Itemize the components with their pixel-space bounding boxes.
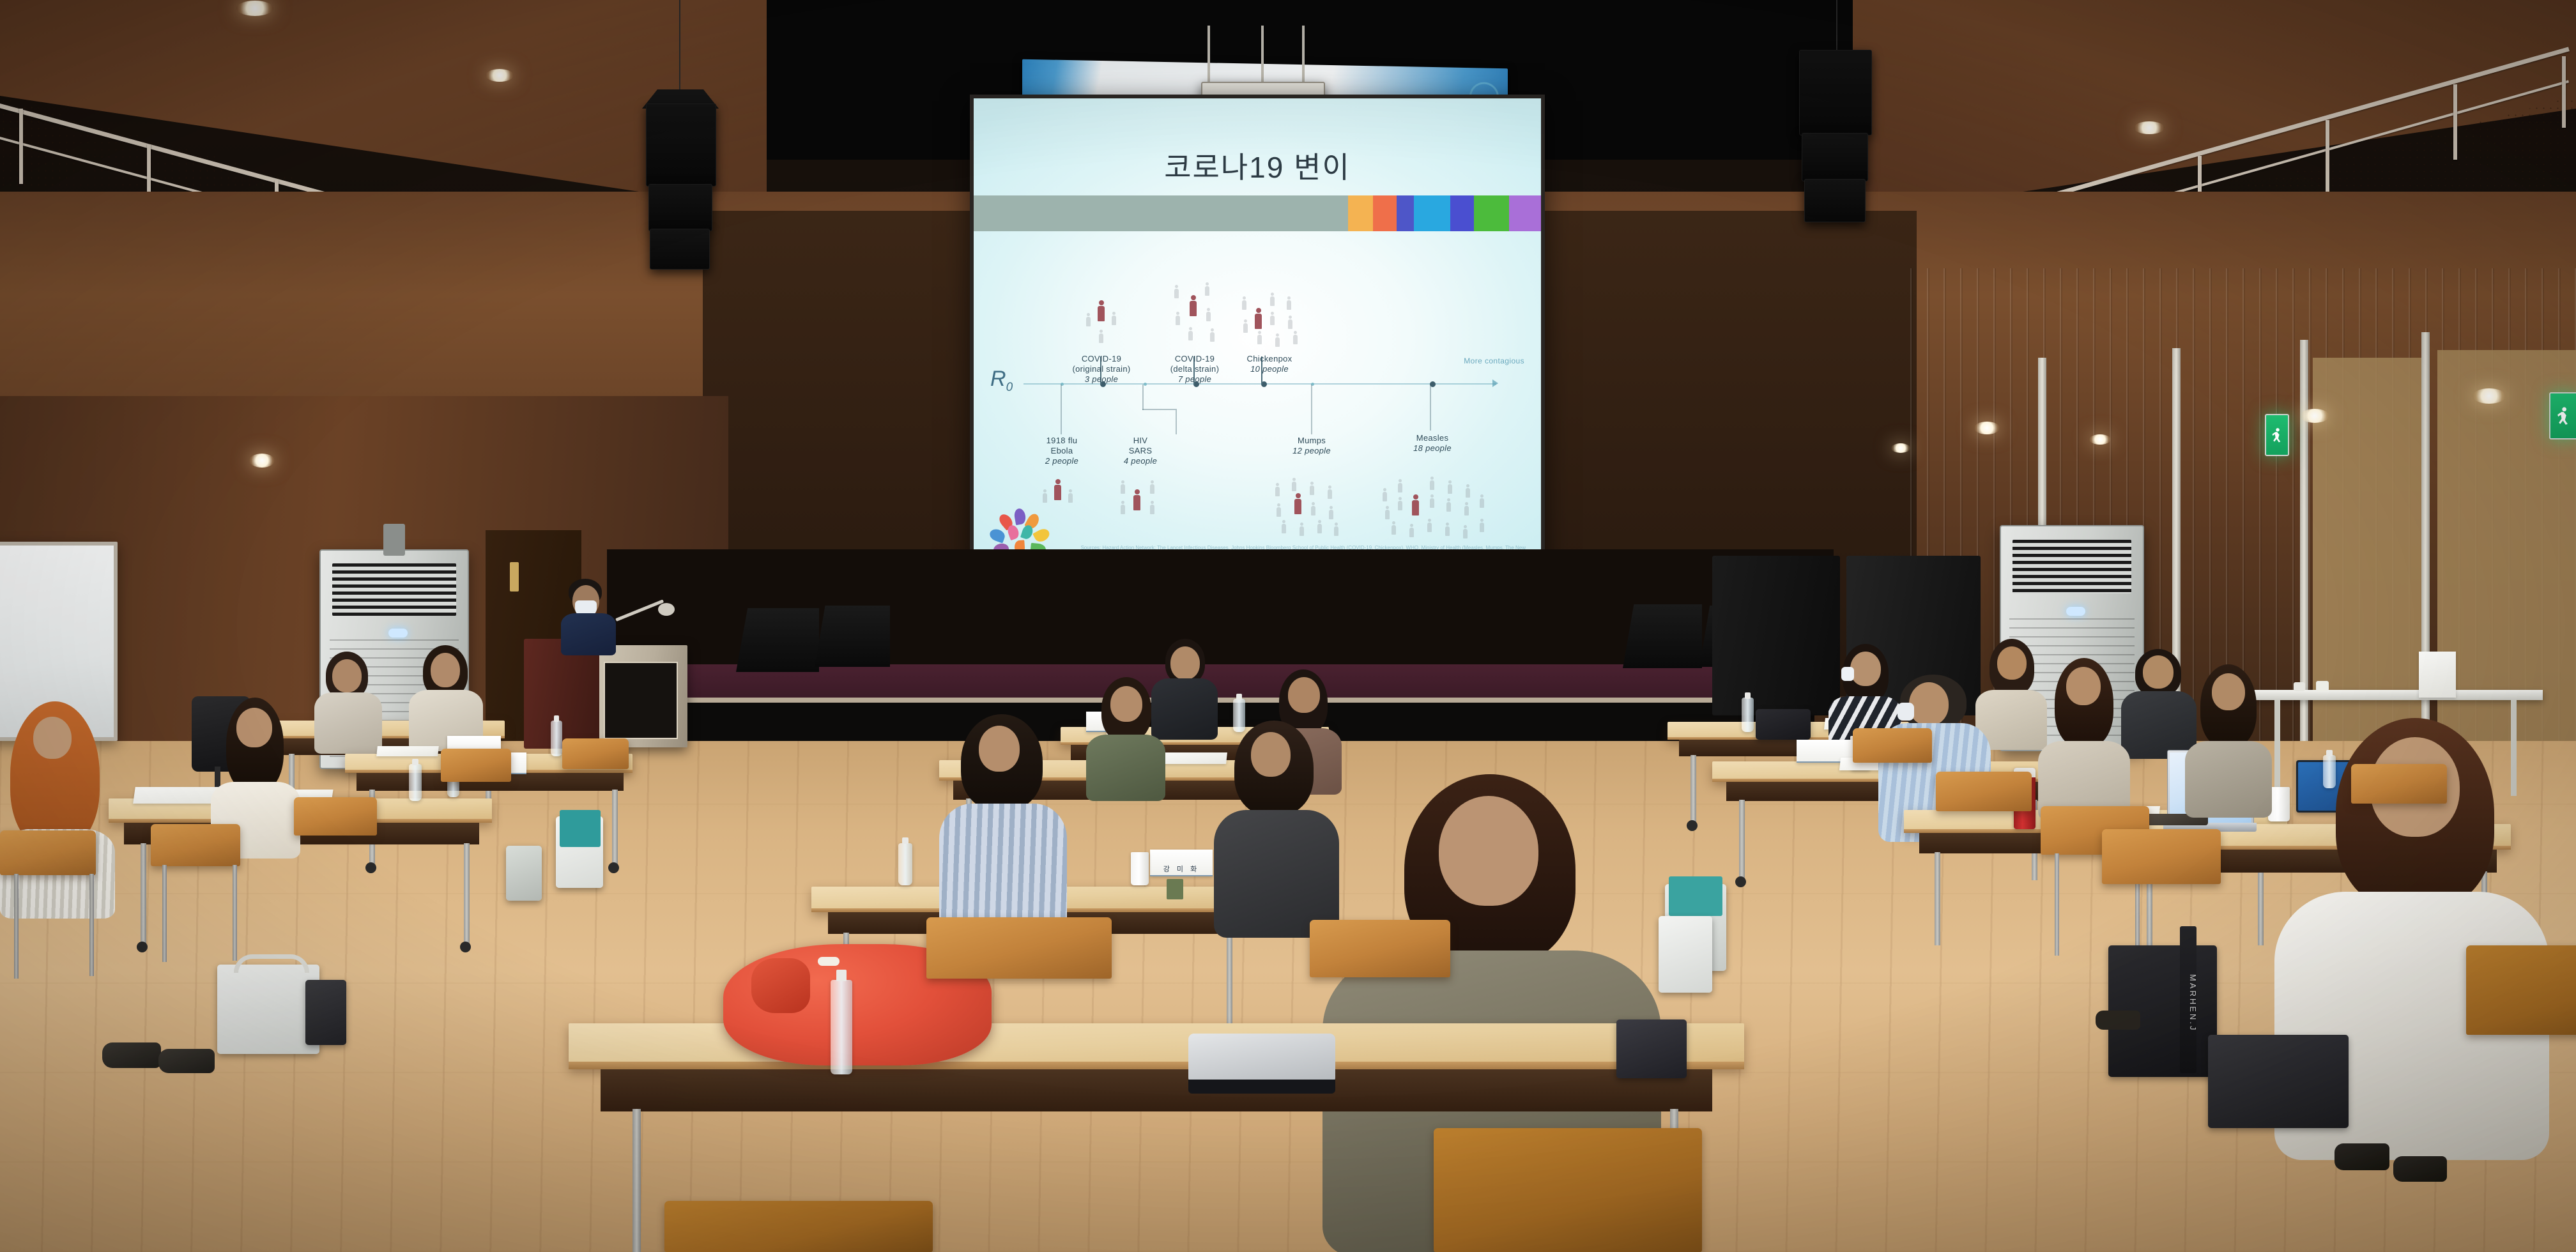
wall-perf-panel — [2313, 358, 2421, 779]
figure-group-covid-original — [1076, 290, 1133, 354]
water-bottle[interactable] — [551, 721, 562, 756]
backpack-logo — [818, 957, 839, 966]
attendee — [939, 714, 1067, 931]
shoe — [102, 1042, 161, 1068]
speaker-cluster-right — [1782, 0, 1897, 268]
projection-screen: 코로나19 변이 R0 More contagious — [974, 98, 1541, 595]
paper-bag-label — [1669, 876, 1722, 916]
chair[interactable] — [926, 917, 1112, 979]
water-bottle[interactable] — [831, 980, 852, 1074]
figure-group-chickenpox — [1234, 282, 1308, 355]
ceiling-spotlight — [1891, 443, 1910, 453]
chair[interactable] — [1936, 772, 2032, 811]
shoe — [2096, 1011, 2140, 1030]
figure-group-mumps — [1270, 475, 1347, 534]
chair[interactable] — [2466, 945, 2576, 1035]
water-bottle[interactable] — [1742, 698, 1754, 732]
ceiling-spotlight — [2089, 434, 2111, 445]
podium — [594, 645, 687, 747]
chair[interactable] — [151, 824, 240, 866]
name-card-text: 강 미 화 — [1163, 864, 1199, 875]
slide-color-band — [974, 195, 1541, 231]
supply-table — [2249, 690, 2543, 700]
chair-foreground[interactable] — [664, 1201, 933, 1252]
laptop-base-edge — [1188, 1080, 1335, 1094]
label-covid-original: COVID-19(original strain)3 people — [1054, 354, 1149, 385]
ceiling-spotlight — [2134, 121, 2165, 134]
paper-bag[interactable] — [1659, 916, 1712, 993]
stage-monitor-speaker — [736, 608, 819, 672]
label-chickenpox: Chickenpox10 people — [1228, 354, 1311, 374]
ceiling-spotlight — [2472, 388, 2506, 404]
ceiling-spotlight — [236, 1, 273, 16]
more-contagious-note: More contagious — [1464, 356, 1524, 365]
attendee — [313, 652, 383, 747]
bag-handle — [234, 954, 309, 973]
backpack-pocket — [751, 958, 810, 1013]
exit-sign-right — [2549, 392, 2576, 439]
microphone-head — [658, 603, 675, 616]
label-hiv-sars: HIVSARS4 people — [1105, 436, 1176, 466]
speaker-presenter — [560, 579, 617, 654]
bag-brand-text: MARHEN.J — [2179, 958, 2198, 1048]
small-box — [2294, 682, 2305, 691]
slide-title: 코로나19 변이 — [974, 144, 1541, 187]
attendee — [409, 645, 483, 747]
chair[interactable] — [1853, 728, 1932, 763]
handbag-floor[interactable] — [1616, 1019, 1687, 1078]
chair[interactable] — [294, 797, 377, 836]
label-mumps: Mumps12 people — [1276, 436, 1347, 456]
paper-cup[interactable] — [1131, 852, 1149, 885]
stage-monitor-speaker — [1623, 604, 1702, 668]
laptop-closed[interactable] — [1188, 1034, 1335, 1083]
axis-arrow-icon — [1492, 379, 1498, 387]
chair[interactable] — [562, 738, 629, 769]
ceiling-spotlight — [2300, 409, 2329, 423]
handbag[interactable] — [1756, 709, 1811, 740]
attendee — [2185, 664, 2272, 809]
laptop-sleeve[interactable] — [305, 980, 346, 1045]
exit-sign-left — [2265, 414, 2289, 456]
speaker-cluster-left — [629, 0, 744, 275]
shoe — [2334, 1143, 2389, 1170]
label-1918flu-ebola: 1918 fluEbola2 people — [1023, 436, 1100, 466]
chair[interactable] — [2351, 764, 2447, 804]
tote-bag[interactable] — [217, 965, 319, 1054]
name-card: 강 미 화 — [1150, 850, 1213, 876]
ceiling-spotlight — [1974, 422, 2000, 434]
av-cabinet — [1712, 556, 1840, 715]
ceiling-spotlight — [249, 454, 275, 468]
small-box — [2316, 681, 2329, 691]
figure-group-measles — [1376, 469, 1491, 539]
axis-label-r0: R0 — [990, 367, 1013, 395]
face-mask — [1897, 703, 1914, 721]
attendee — [1214, 721, 1339, 931]
figure-group-hiv-sars — [1113, 479, 1167, 529]
pen-holder[interactable] — [1167, 879, 1183, 899]
figure-group-covid-delta — [1165, 279, 1229, 354]
label-measles: Measles18 people — [1394, 433, 1471, 454]
attendee — [1086, 677, 1165, 792]
chair[interactable] — [2102, 829, 2221, 884]
chair[interactable] — [441, 749, 511, 782]
laptop-bag[interactable] — [2208, 1035, 2349, 1128]
chair[interactable] — [1310, 920, 1450, 977]
stage-monitor-speaker — [815, 606, 890, 667]
chair-foreground[interactable] — [1434, 1128, 1702, 1252]
attendee — [2038, 658, 2130, 811]
handout-papers[interactable] — [376, 746, 439, 756]
paper-bag[interactable] — [506, 846, 542, 901]
water-bottle[interactable] — [409, 764, 422, 801]
shoe — [158, 1049, 215, 1073]
chair[interactable] — [0, 830, 96, 875]
water-bottle[interactable] — [898, 843, 912, 885]
ac-duct — [383, 524, 405, 556]
door-handle[interactable] — [510, 562, 519, 592]
paper-bag-label — [560, 810, 601, 847]
document-stand — [2419, 652, 2456, 698]
face-mask — [1841, 667, 1854, 681]
ceiling-spotlight — [486, 69, 514, 82]
lecture-hall-photo: 지자체 감염병대응 -F) 7월~10월 질병청 국립보건연구원 충청남도 한국… — [0, 0, 2576, 1252]
shoe — [2393, 1156, 2447, 1182]
